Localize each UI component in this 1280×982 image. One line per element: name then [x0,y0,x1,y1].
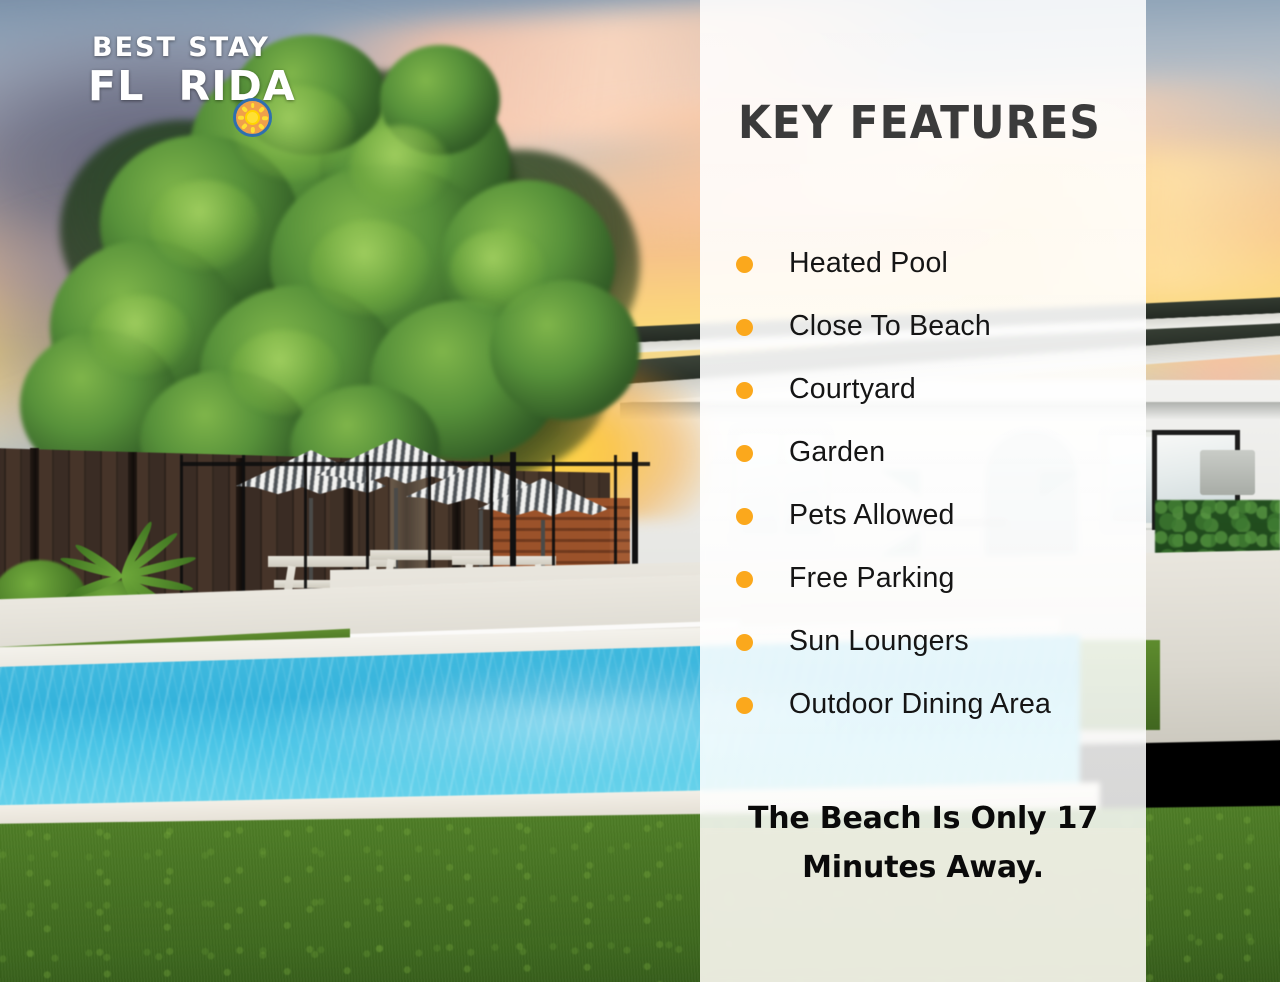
list-item: Free Parking [700,547,1146,610]
list-item: Close To Beach [700,295,1146,358]
feature-label: Free Parking [789,562,955,595]
feature-label: Outdoor Dining Area [789,688,1051,721]
features-list: Heated Pool Close To Beach Courtyard Gar… [700,232,1146,736]
page-title: KEY FEATURES [738,100,1101,145]
bullet-icon [736,634,753,651]
feature-label: Sun Loungers [789,625,969,658]
sun-core [245,110,260,125]
bullet-icon [736,571,753,588]
feature-label: Pets Allowed [789,499,955,532]
key-features-content: KEY FEATURES Heated Pool Close To Beach … [700,0,1146,982]
beach-distance-caption: The Beach Is Only 17 Minutes Away. [724,795,1122,892]
sun-ray [251,127,255,133]
sun-icon [233,98,272,137]
list-item: Garden [700,421,1146,484]
list-item: Sun Loungers [700,610,1146,673]
bullet-icon [736,508,753,525]
feature-label: Garden [789,436,885,469]
list-item: Heated Pool [700,232,1146,295]
list-item: Pets Allowed [700,484,1146,547]
bullet-icon [736,319,753,336]
sun-ray [251,103,255,109]
key-features-poster: KEY FEATURES Heated Pool Close To Beach … [0,0,1280,982]
logo-line-2-pre: FL [88,62,145,110]
logo-line-1: BEST STAY [92,32,270,63]
brand-logo: BEST STAY FLRIDA [88,32,318,110]
list-item: Outdoor Dining Area [700,673,1146,736]
bullet-icon [736,697,753,714]
list-item: Courtyard [700,358,1146,421]
feature-label: Close To Beach [789,310,991,343]
feature-label: Heated Pool [789,247,948,280]
bullet-icon [736,382,753,399]
sun-ray [262,116,268,120]
bullet-icon [736,445,753,462]
bullet-icon [736,256,753,273]
sun-ray [238,116,244,120]
feature-label: Courtyard [789,373,916,406]
